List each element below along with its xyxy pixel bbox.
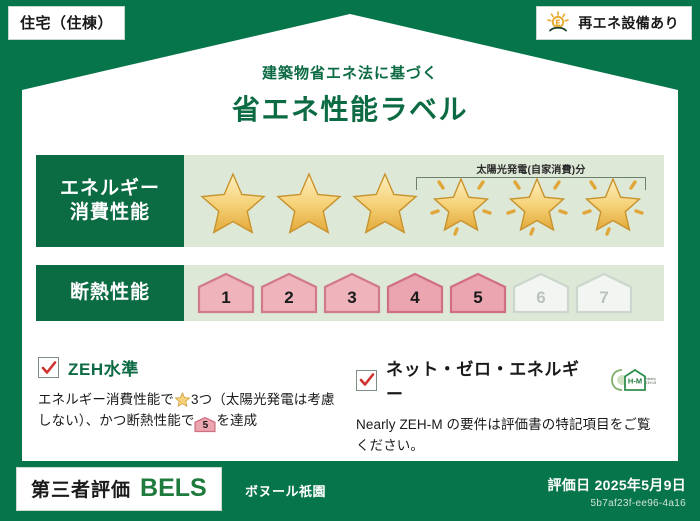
insulation-performance-label-box: 断熱性能 (36, 265, 184, 321)
sun-icon (545, 11, 571, 35)
label-subtitle: 建築物省エネ法に基づく (0, 62, 700, 83)
star-icon-solar (424, 166, 498, 236)
nearly-zeh-m-logo-icon: H-M Nearly ZEH-M (610, 367, 656, 393)
heading-block: 建築物省エネ法に基づく 省エネ性能ラベル (0, 62, 700, 128)
house-type-tag: 住宅（住棟） (8, 6, 125, 40)
zeh-standard-section: ZEH水準 エネルギー消費性能で 3つ（太陽光発電は考慮しない）、かつ断熱性能で… (38, 355, 338, 433)
insulation-level-house: 5 (448, 271, 508, 315)
insulation-level-number: 4 (410, 288, 419, 315)
check-icon (41, 360, 57, 376)
insulation-level-number: 1 (221, 288, 230, 315)
star-icon-solar (576, 166, 650, 236)
insulation-level-house: 7 (574, 271, 634, 315)
zeh-standard-header: ZEH水準 (38, 355, 338, 380)
insulation-level-number: 5 (473, 288, 482, 315)
energy-label-line2: 消費性能 (70, 201, 150, 225)
insulation-level-number: 3 (347, 288, 356, 315)
inline-house-icon: 5 (194, 416, 216, 433)
insulation-level-number: 7 (599, 288, 608, 315)
third-party-eval-label: 第三者評価 (31, 475, 131, 502)
page-title: 省エネ性能ラベル (0, 88, 700, 128)
evaluation-date: 評価日 2025年5月9日 (547, 475, 686, 495)
zeh-desc-part1: エネルギー消費性能で (38, 392, 174, 407)
evaluation-date-label: 評価日 (547, 477, 590, 493)
insulation-level-house: 1 (196, 271, 256, 315)
energy-label-line1: エネルギー (60, 177, 160, 201)
inline-star-icon (174, 391, 191, 408)
net-zero-energy-description: Nearly ZEH-M の要件は評価書の特記項目をご覧ください。 (356, 414, 656, 457)
insulation-levels-panel: 1 2 3 4 5 6 7 (184, 265, 664, 321)
svg-text:H-M: H-M (628, 377, 642, 386)
star-icon (272, 166, 346, 236)
house-type-tag-label: 住宅（住棟） (20, 15, 113, 32)
net-zero-energy-checkbox[interactable] (356, 370, 377, 391)
energy-stars-panel: 太陽光発電(自家消費)分 (184, 155, 664, 247)
check-icon (359, 372, 375, 388)
evaluation-date-value: 2025年5月9日 (595, 477, 686, 493)
renewable-badge-label: 再エネ設備あり (578, 13, 679, 33)
zeh-checkbox[interactable] (38, 357, 59, 378)
energy-performance-row: エネルギー 消費性能 太陽光発電(自家消費)分 (36, 155, 664, 247)
svg-text:ZEH-M: ZEH-M (646, 381, 656, 385)
building-name: ボヌール祇園 (245, 481, 326, 500)
insulation-level-house: 6 (511, 271, 571, 315)
zeh-desc-part3: を達成 (216, 413, 257, 428)
insulation-label: 断熱性能 (70, 281, 150, 305)
insulation-level-house: 4 (385, 271, 445, 315)
star-icon-solar (500, 166, 574, 236)
renewable-equipment-badge: 再エネ設備あり (536, 6, 692, 40)
inline-house-number: 5 (194, 416, 216, 435)
zeh-standard-title: ZEH水準 (68, 355, 139, 380)
zeh-standard-description: エネルギー消費性能で 3つ（太陽光発電は考慮しない）、かつ断熱性能で 5 を達成 (38, 389, 338, 433)
energy-performance-label: 住宅（住棟） 再エネ設備あり 建築物省エネ法に基づく 省エネ性能ラベル (0, 0, 700, 521)
evaluation-id: 5b7af23f-ee96-4a16 (547, 498, 686, 509)
insulation-performance-row: 断熱性能 1 2 3 4 5 (36, 265, 664, 321)
evaluation-info: 評価日 2025年5月9日 5b7af23f-ee96-4a16 (547, 475, 686, 509)
insulation-level-number: 2 (284, 288, 293, 315)
net-zero-energy-title: ネット・ゼロ・エネルギー (386, 355, 597, 405)
insulation-level-house: 3 (322, 271, 382, 315)
insulation-level-house: 2 (259, 271, 319, 315)
energy-performance-label-box: エネルギー 消費性能 (36, 155, 184, 247)
insulation-level-number: 6 (536, 288, 545, 315)
star-icon (348, 166, 422, 236)
net-zero-energy-section: ネット・ゼロ・エネルギー H-M Nearly ZEH-M Nearly ZEH… (356, 355, 656, 457)
bels-logo-text: BELS (140, 474, 207, 503)
star-icon (196, 166, 270, 236)
bels-certification-plate: 第三者評価 BELS (16, 467, 222, 511)
net-zero-energy-header: ネット・ゼロ・エネルギー H-M Nearly ZEH-M (356, 355, 656, 405)
